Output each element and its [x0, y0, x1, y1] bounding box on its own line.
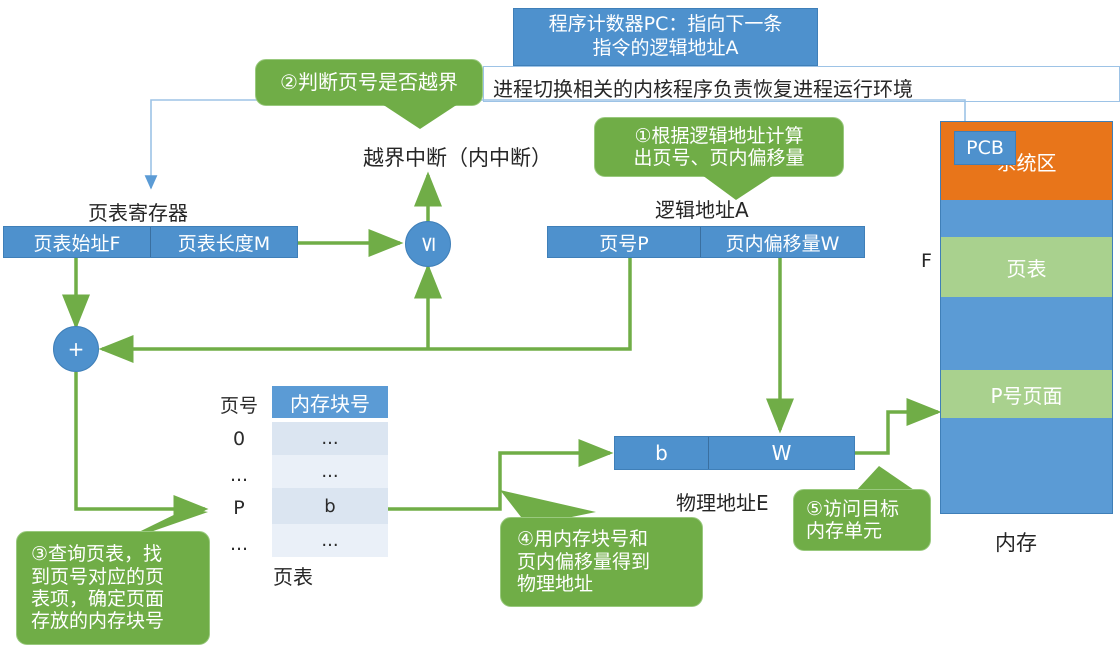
diagram-canvas: 程序计数器PC：指向下一条 指令的逻辑地址A 进程切换相关的内核程序负责恢复进程… — [0, 0, 1120, 654]
pc-box-line1: 程序计数器PC：指向下一条 — [549, 13, 783, 37]
page-table-key-3: ... — [230, 533, 248, 555]
callout-step2-line1: ②判断页号是否越界 — [280, 71, 458, 95]
callout-step4-line2: 页内偏移量得到 — [517, 551, 650, 573]
page-table-key-1: ... — [230, 464, 248, 486]
plus-operator-circle: + — [53, 326, 99, 372]
page-table-cell-key: P — [210, 497, 268, 519]
page-table-caption: 页表 — [273, 561, 313, 590]
pcb-block: PCB — [954, 131, 1016, 165]
compare-operator-circle: ≤ — [405, 221, 451, 267]
page-table-cell-value: ... — [321, 428, 338, 449]
table-row: ... — [272, 524, 388, 557]
logical-offset-cell: 页内偏移量W — [700, 227, 864, 257]
memory-segment-target-page-label: P号页面 — [990, 380, 1062, 409]
page-table-register-box: 页表始址F 页表长度M — [3, 226, 298, 258]
pageno-to-plus-arrow — [102, 258, 630, 349]
callout-step3-line1: ③查询页表，找 — [31, 543, 162, 565]
pc-register-box: 程序计数器PC：指向下一条 指令的逻辑地址A — [513, 8, 818, 66]
callout-step1-line2: 出页号、页内偏移量 — [633, 147, 804, 169]
physical-offset-cell: W — [708, 437, 854, 469]
register-base-label: 页表始址F — [34, 229, 121, 256]
callout-step3: ③查询页表，找 到页号对应的页 表项，确定页面 存放的内存块号 — [16, 531, 210, 645]
physical-offset-label: W — [772, 441, 792, 465]
page-table-cell-key: ... — [210, 533, 268, 555]
pc-box-line2: 指令的逻辑地址A — [593, 37, 739, 61]
page-table-key-2: P — [233, 497, 244, 519]
callout-step1: ①根据逻辑地址计算 出页号、页内偏移量 — [594, 117, 844, 177]
memory-column: 系统区 页表 P号页面 — [940, 121, 1113, 514]
pcb-label: PCB — [966, 137, 1004, 159]
logical-page-no-label: 页号P — [599, 229, 648, 256]
callout-step1-line1: ①根据逻辑地址计算 — [634, 125, 803, 147]
memory-segment-page-table: 页表 — [941, 237, 1112, 297]
register-length-cell: 页表长度M — [150, 227, 297, 257]
callout-step4-line3: 物理地址 — [517, 573, 593, 595]
memory-segment-target-page: P号页面 — [941, 370, 1112, 418]
callout-step5-line1: ⑤访问目标 — [806, 498, 899, 520]
physical-block-cell: b — [615, 437, 708, 469]
logical-offset-label: 页内偏移量W — [726, 229, 840, 256]
out-of-bounds-interrupt-label: 越界中断（内中断） — [363, 142, 552, 172]
memory-segment-free-3 — [941, 418, 1112, 515]
register-base-cell: 页表始址F — [4, 227, 150, 257]
plus-operator-symbol: + — [68, 337, 85, 361]
callout-step3-line2: 到页号对应的页 — [31, 566, 164, 588]
memory-segment-free-1 — [941, 200, 1112, 237]
page-table-cell-value: ... — [321, 461, 338, 482]
physical-block-label: b — [655, 441, 668, 465]
physical-address-caption: 物理地址E — [676, 487, 769, 516]
callout-step5: ⑤访问目标 内存单元 — [793, 489, 931, 551]
memory-caption: 内存 — [995, 527, 1037, 557]
page-table-cell-key: ... — [210, 464, 268, 486]
memory-segment-free-2 — [941, 297, 1112, 370]
callout-step3-line4: 存放的内存块号 — [31, 610, 164, 632]
logical-address-caption: 逻辑地址A — [655, 194, 749, 223]
page-table-value-header-label: 内存块号 — [290, 388, 370, 417]
table-row: ... — [272, 422, 388, 455]
callout-step3-line3: 表项，确定页面 — [31, 588, 164, 610]
physical-address-box: b W — [614, 436, 855, 470]
page-table-cell-value: ... — [321, 530, 338, 551]
page-table-cell-key: 0 — [210, 428, 268, 450]
callout-step4-line1: ④用内存块号和 — [517, 528, 648, 550]
memory-segment-page-table-label: 页表 — [1007, 253, 1047, 282]
page-table-register-caption: 页表寄存器 — [88, 197, 188, 226]
page-table-key-header-label: 页号 — [220, 395, 258, 417]
register-length-label: 页表长度M — [178, 229, 270, 256]
physical-to-memory-arrow — [855, 412, 938, 453]
process-switch-note: 进程切换相关的内核程序负责恢复进程运行环境 — [493, 73, 913, 102]
page-table-value-header: 内存块号 — [272, 386, 388, 418]
plus-to-pagetable-arrow — [76, 372, 205, 509]
compare-operator-symbol: ≤ — [417, 235, 438, 253]
table-row: ... — [272, 455, 388, 488]
callout-step2: ②判断页号是否越界 — [255, 59, 483, 106]
memory-f-marker: F — [921, 250, 932, 272]
page-table-key-0: 0 — [233, 428, 245, 450]
page-table-cell-value: b — [324, 496, 335, 517]
callout-step2-tail — [380, 104, 460, 130]
logical-page-no-cell: 页号P — [548, 227, 700, 257]
callout-step4: ④用内存块号和 页内偏移量得到 物理地址 — [500, 517, 703, 607]
page-table-key-header: 页号 — [210, 391, 268, 418]
callout-step5-line2: 内存单元 — [806, 520, 882, 542]
table-row: b — [272, 488, 388, 524]
logical-address-box: 页号P 页内偏移量W — [547, 226, 865, 258]
